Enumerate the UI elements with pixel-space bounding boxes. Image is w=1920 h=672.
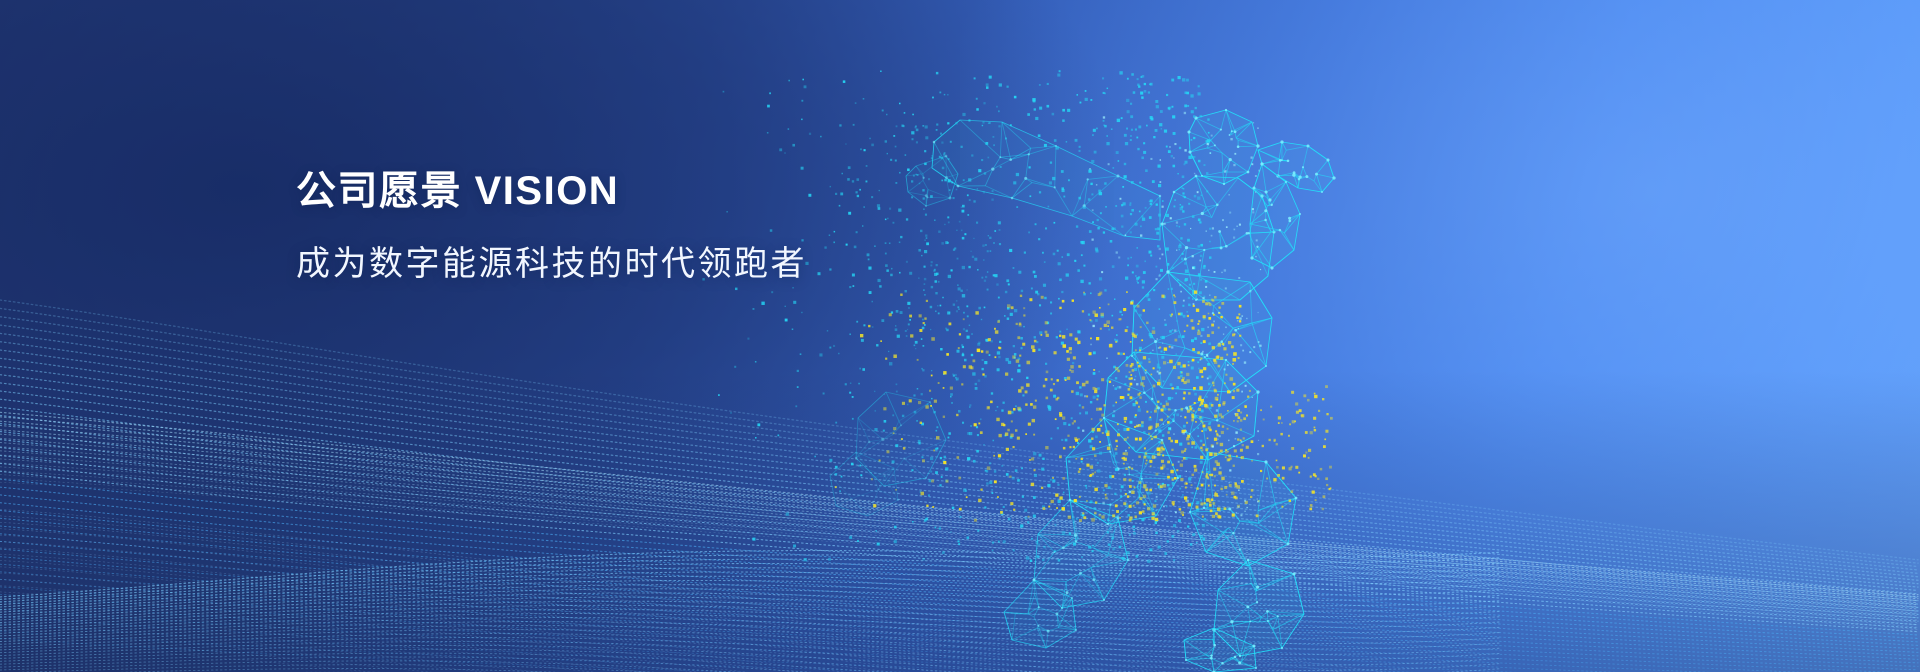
particle-dissolve-effect <box>0 0 1920 672</box>
banner-text-block: 公司愿景 VISION 成为数字能源科技的时代领跑者 <box>296 166 807 286</box>
page-title: 公司愿景 VISION <box>296 166 807 216</box>
vision-banner: 公司愿景 VISION 成为数字能源科技的时代领跑者 <box>0 0 1920 672</box>
page-subtitle: 成为数字能源科技的时代领跑者 <box>296 242 807 286</box>
